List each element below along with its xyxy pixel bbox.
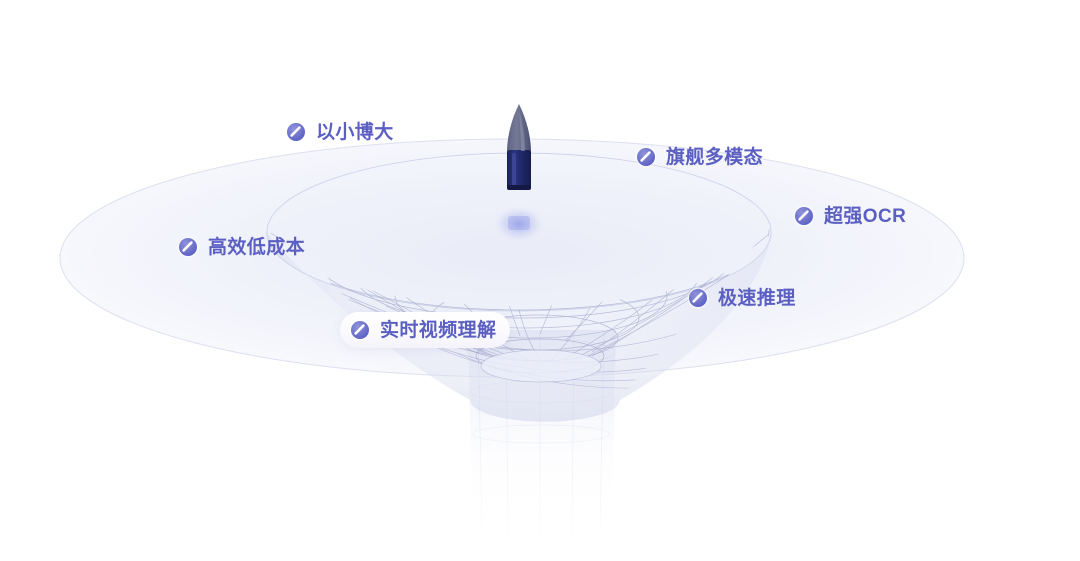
vortex-throat: [481, 350, 601, 382]
feature-chip-fast-inference[interactable]: 极速推理: [678, 280, 810, 316]
vortex-artwork: [0, 0, 1080, 561]
feature-label: 超强OCR: [824, 207, 906, 226]
feature-chip-realtime-video[interactable]: 实时视频理解: [340, 312, 510, 348]
feature-chip-yixiaoboda[interactable]: 以小博大: [276, 114, 408, 150]
feature-chip-low-cost[interactable]: 高效低成本: [168, 229, 319, 265]
feature-label: 旗舰多模态: [666, 148, 763, 167]
check-badge-icon: [687, 287, 709, 309]
feature-chip-multimodal[interactable]: 旗舰多模态: [626, 139, 777, 175]
feature-label: 实时视频理解: [380, 321, 496, 340]
check-badge-icon: [635, 146, 657, 168]
feature-label: 以小博大: [316, 123, 394, 142]
check-badge-icon: [793, 205, 815, 227]
rocket-glow: [491, 204, 547, 244]
check-badge-icon: [349, 319, 371, 341]
feature-label: 高效低成本: [208, 238, 305, 257]
rocket-icon: [507, 104, 531, 190]
illustration-canvas: 以小博大 旗舰多模态: [0, 0, 1080, 561]
check-badge-icon: [177, 236, 199, 258]
check-badge-icon: [285, 121, 307, 143]
feature-label: 极速推理: [718, 289, 796, 308]
feature-chip-ocr[interactable]: 超强OCR: [784, 198, 920, 234]
